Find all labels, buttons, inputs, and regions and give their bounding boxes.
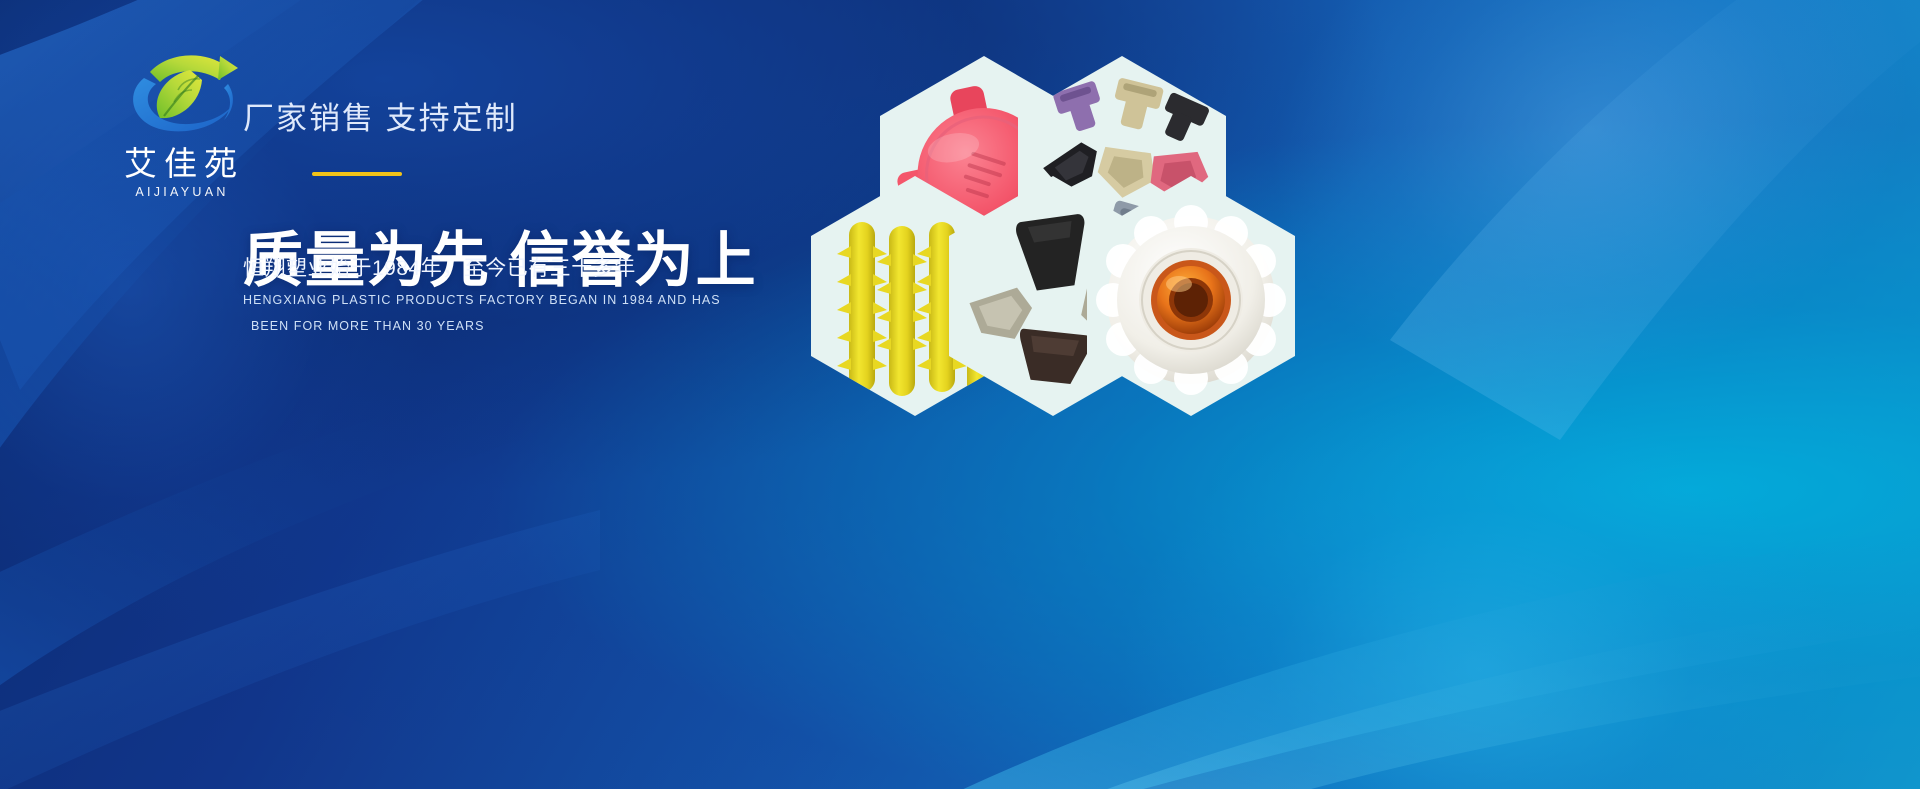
banner-kicker: 厂家销售 支持定制	[243, 93, 518, 138]
product-hexagon-cluster	[800, 42, 1320, 392]
brand-name-pinyin: AIJIAYUAN	[78, 185, 283, 199]
banner-content: 艾佳苑 AIJIAYUAN 厂家销售 支持定制 质量为先 信誉为上 恒翔塑业始于…	[0, 0, 900, 789]
leaf-swoosh-logo-icon	[116, 48, 246, 144]
promo-banner: 艾佳苑 AIJIAYUAN 厂家销售 支持定制 质量为先 信誉为上 恒翔塑业始于…	[0, 0, 1920, 789]
english-line-1: HENGXIANG PLASTIC PRODUCTS FACTORY BEGAN…	[243, 287, 721, 313]
english-line-2: BEEN FOR MORE THAN 30 YEARS	[243, 313, 721, 339]
banner-subline: 恒翔塑业始于1984年，至今已有三十多年	[243, 252, 636, 282]
banner-english-copy: HENGXIANG PLASTIC PRODUCTS FACTORY BEGAN…	[243, 287, 721, 339]
accent-rule	[312, 172, 402, 176]
brand-name-cn: 艾佳苑	[78, 146, 283, 182]
